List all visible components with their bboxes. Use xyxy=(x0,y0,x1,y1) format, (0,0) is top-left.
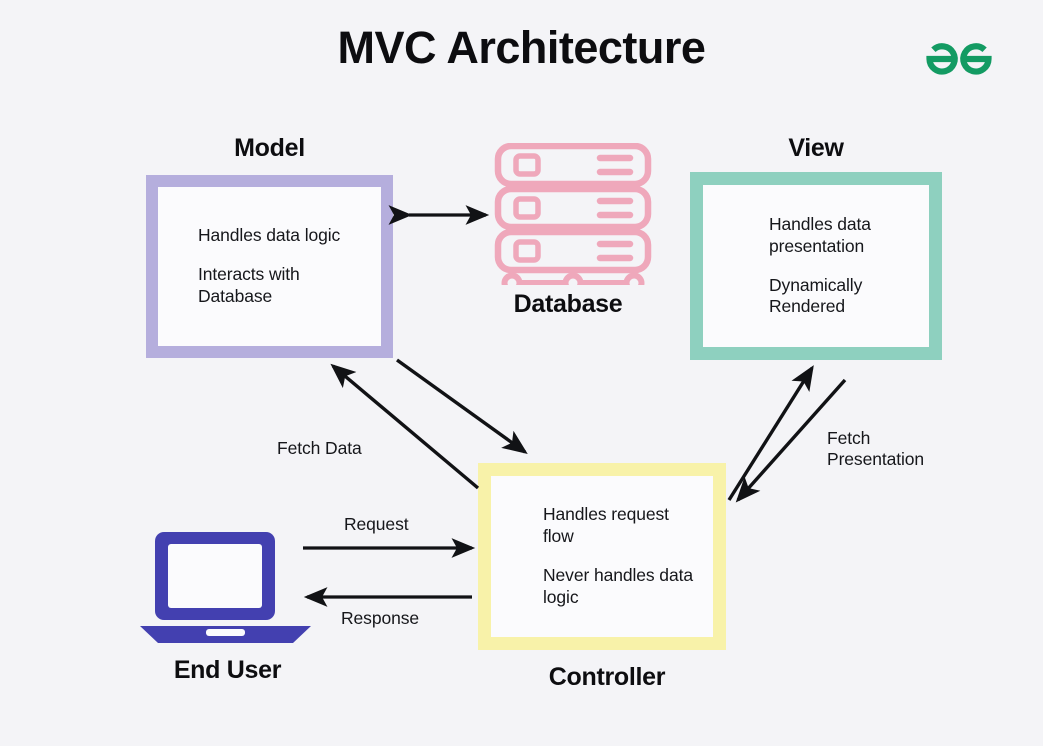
view-line-2: Dynamically Rendered xyxy=(769,275,917,319)
model-caption: Model xyxy=(146,134,393,163)
arrow-model-to-controller xyxy=(397,360,525,452)
database-caption: Database xyxy=(468,290,668,319)
arrow-controller-to-view xyxy=(729,368,812,500)
view-box[interactable]: Handles data presentation Dynamically Re… xyxy=(690,172,942,360)
controller-line-1: Handles request flow xyxy=(543,504,701,548)
controller-line-2: Never handles data logic xyxy=(543,565,701,609)
view-line-1: Handles data presentation xyxy=(769,214,917,258)
model-box[interactable]: Handles data logic Interacts with Databa… xyxy=(146,175,393,358)
end-user-caption: End User xyxy=(130,656,325,685)
controller-caption: Controller xyxy=(478,663,736,692)
controller-box[interactable]: Handles request flow Never handles data … xyxy=(478,463,726,650)
model-line-1: Handles data logic xyxy=(198,225,369,247)
geeksforgeeks-logo xyxy=(915,32,1003,80)
view-caption: View xyxy=(690,134,942,163)
laptop-icon xyxy=(137,530,314,647)
page-title: MVC Architecture xyxy=(0,22,1043,74)
label-fetch-presentation: Fetch Presentation xyxy=(827,428,924,471)
arrow-controller-to-model xyxy=(333,366,478,488)
diagram-canvas: MVC Architecture Model Handles data logi… xyxy=(0,0,1043,746)
database-server-icon xyxy=(494,143,652,285)
label-request: Request xyxy=(344,514,408,535)
label-fetch-data: Fetch Data xyxy=(277,438,362,459)
label-response: Response xyxy=(341,608,419,629)
model-line-2: Interacts with Database xyxy=(198,264,369,308)
